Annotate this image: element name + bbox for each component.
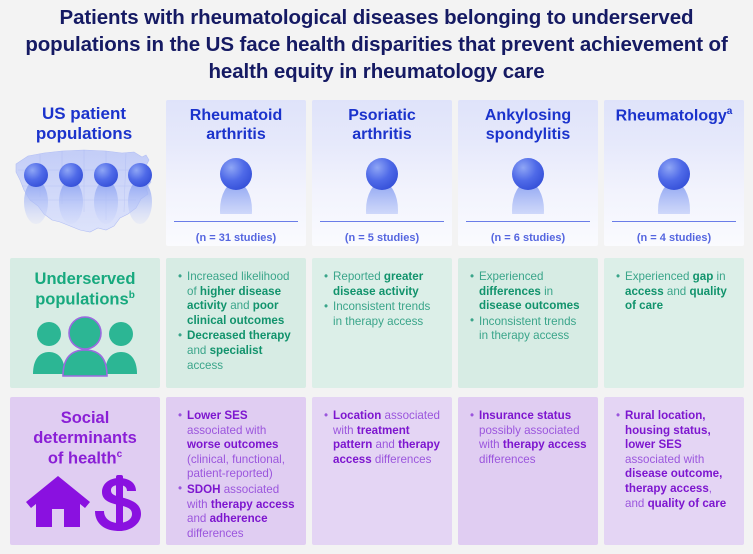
- three-people-icon: [10, 316, 160, 378]
- bullet-item: Inconsistent trends in therapy access: [324, 300, 442, 329]
- row-label-text: Underserved populationsb: [10, 258, 160, 310]
- bullet-item: Experienced gap in access and quality of…: [616, 270, 734, 314]
- bullet-list: Experienced differences in disease outco…: [458, 258, 598, 344]
- header-card-title: Psoriatic arthritis: [312, 100, 452, 144]
- person-icon: [458, 152, 598, 214]
- header-title-line1: Psoriatic: [348, 107, 416, 124]
- footnote-marker-b: b: [129, 290, 135, 301]
- row-label-line1: Social: [61, 409, 110, 427]
- bullet-item: Increased likelihood of higher disease a…: [178, 270, 296, 328]
- header-card-divider: [466, 221, 590, 222]
- cell-sdoh-rheumatoid-arthritis: Lower SES associated with worse outcomes…: [166, 397, 306, 545]
- header-left-line1: US patient: [42, 104, 126, 123]
- house-icon: [26, 476, 90, 527]
- row-social-determinants-of-health: Social determinants of healthc Lo: [0, 397, 753, 545]
- cell-sdoh-rheumatology: Rural location, housing status, lower SE…: [604, 397, 744, 545]
- bullet-item: Decreased therapy and specialist access: [178, 329, 296, 373]
- header-card-divider: [174, 221, 298, 222]
- bullet-list: Increased likelihood of higher disease a…: [166, 258, 306, 373]
- row-label-underserved-populations: Underserved populationsb: [10, 258, 160, 388]
- footnote-marker-a: a: [727, 106, 733, 117]
- bullet-item: Experienced differences in disease outco…: [470, 270, 588, 314]
- us-patient-populations-header: US patient populations: [8, 100, 160, 246]
- header-card-rheumatology[interactable]: Rheumatologya (n = 4 studies): [604, 100, 744, 246]
- bullet-list: Rural location, housing status, lower SE…: [604, 397, 744, 511]
- house-and-dollar-icon: [10, 475, 160, 533]
- dollar-icon: [95, 475, 141, 531]
- study-count: (n = 5 studies): [312, 232, 452, 244]
- header-card-title: Rheumatologya: [604, 100, 744, 126]
- row-label-line3: of health: [48, 449, 117, 467]
- bullet-list: Insurance status possibly associated wit…: [458, 397, 598, 467]
- us-patient-populations-label: US patient populations: [8, 100, 160, 145]
- row-label-line1: Underserved: [35, 270, 136, 288]
- cell-underserved-rheumatology: Experienced gap in access and quality of…: [604, 258, 744, 388]
- header-title-line1: Ankylosing: [485, 107, 571, 124]
- cell-sdoh-ankylosing-spondylitis: Insurance status possibly associated wit…: [458, 397, 598, 545]
- header-title-line2: arthritis: [206, 126, 266, 143]
- row-label-line2: determinants: [33, 429, 137, 447]
- page-title: Patients with rheumatological diseases b…: [0, 4, 753, 85]
- header-card-divider: [612, 221, 736, 222]
- header-card-ankylosing-spondylitis[interactable]: Ankylosing spondylitis (n = 6 studies): [458, 100, 598, 246]
- header-card-title: Ankylosing spondylitis: [458, 100, 598, 144]
- study-count: (n = 6 studies): [458, 232, 598, 244]
- bullet-item: Insurance status possibly associated wit…: [470, 409, 588, 467]
- bullet-item: Lower SES associated with worse outcomes…: [178, 409, 296, 482]
- bullet-list: Reported greater disease activityInconsi…: [312, 258, 452, 329]
- bullet-item: Reported greater disease activity: [324, 270, 442, 299]
- header-card-divider: [320, 221, 444, 222]
- cell-underserved-psoriatic-arthritis: Reported greater disease activityInconsi…: [312, 258, 452, 388]
- study-count: (n = 31 studies): [166, 232, 306, 244]
- person-icon: [312, 152, 452, 214]
- header-card-title: Rheumatoid arthritis: [166, 100, 306, 144]
- row-label-social-determinants: Social determinants of healthc: [10, 397, 160, 545]
- person-icon: [166, 152, 306, 214]
- header-row: US patient populations: [0, 100, 753, 246]
- header-card-rheumatoid-arthritis[interactable]: Rheumatoid arthritis (n = 31 studies): [166, 100, 306, 246]
- header-title-line2: spondylitis: [486, 126, 570, 143]
- cell-underserved-rheumatoid-arthritis: Increased likelihood of higher disease a…: [166, 258, 306, 388]
- header-left-line2: populations: [36, 124, 132, 143]
- study-count: (n = 4 studies): [604, 232, 744, 244]
- bullet-item: Location associated with treatment patte…: [324, 409, 442, 467]
- bullet-list: Lower SES associated with worse outcomes…: [166, 397, 306, 541]
- bullet-list: Experienced gap in access and quality of…: [604, 258, 744, 314]
- header-title-line1: Rheumatoid: [190, 107, 282, 124]
- row-underserved-populations: Underserved populationsb: [0, 258, 753, 388]
- person-icon: [604, 152, 744, 214]
- cell-sdoh-psoriatic-arthritis: Location associated with treatment patte…: [312, 397, 452, 545]
- bullet-item: SDOH associated with therapy access and …: [178, 483, 296, 541]
- row-label-line2: populations: [35, 290, 129, 308]
- footnote-marker-c: c: [117, 449, 123, 460]
- row-label-text: Social determinants of healthc: [10, 397, 160, 469]
- cell-underserved-ankylosing-spondylitis: Experienced differences in disease outco…: [458, 258, 598, 388]
- header-title-line2: arthritis: [352, 126, 412, 143]
- infographic-page: Patients with rheumatological diseases b…: [0, 0, 753, 554]
- us-map-with-people-icon: [10, 142, 160, 242]
- bullet-list: Location associated with treatment patte…: [312, 397, 452, 467]
- header-card-psoriatic-arthritis[interactable]: Psoriatic arthritis (n = 5 studies): [312, 100, 452, 246]
- bullet-item: Inconsistent trends in therapy access: [470, 315, 588, 344]
- bullet-item: Rural location, housing status, lower SE…: [616, 409, 734, 511]
- header-title-line1: Rheumatology: [616, 107, 727, 124]
